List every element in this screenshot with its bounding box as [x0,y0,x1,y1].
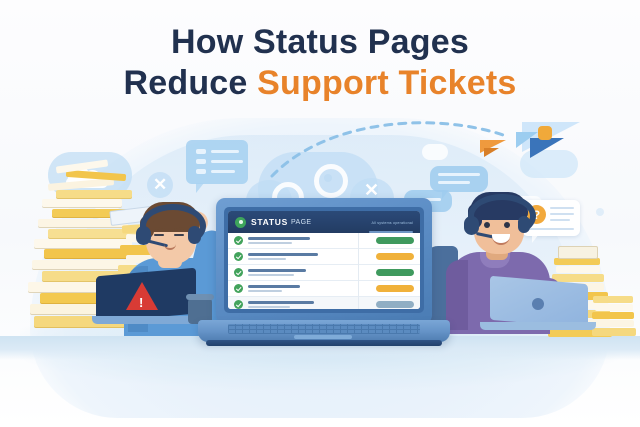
headline-plain: Reduce [124,64,258,102]
warning-exclamation: ! [139,296,143,309]
laptop-trackpad[interactable] [294,335,352,339]
headline-line-1: How Status Pages [0,22,640,63]
paper-plane-icon [512,120,582,168]
document-list-line [196,169,206,174]
status-row-label [248,237,371,244]
laptop-foot [206,340,442,346]
ticket-stack-secondary [592,268,640,340]
status-badge [376,253,414,261]
status-column-divider [358,233,359,309]
status-row-title-line [248,253,318,256]
document-list-line [211,170,235,173]
status-row[interactable] [228,249,420,265]
status-row-detail-line [248,290,282,292]
document-list-line [211,150,239,153]
status-row-detail-line [248,258,286,260]
status-row-label [248,285,371,292]
document-list-line [211,160,243,163]
status-badge [376,269,414,277]
status-row-title-line [248,301,314,304]
laptop-keyboard[interactable] [228,324,420,334]
headline: How Status Pages Reduce Support Tickets [0,22,640,105]
laptop-lid: STATUS PAGE All systems operational [216,198,432,324]
status-page-header: STATUS PAGE All systems operational [228,211,420,233]
status-row-detail-line [248,274,294,276]
status-row-detail-line [248,242,292,244]
green-status-dot-icon [235,217,246,228]
laptop-base [198,320,450,342]
status-page-screen[interactable]: STATUS PAGE All systems operational [228,211,420,309]
status-page-meta-bar [369,231,413,233]
status-row-list [228,233,420,309]
status-badge [376,285,414,293]
document-list-tail [196,183,204,193]
main-laptop: STATUS PAGE All systems operational [198,198,450,348]
laptop-bezel: STATUS PAGE All systems operational [224,207,424,313]
decor-dot [596,208,604,216]
status-row[interactable] [228,281,420,297]
status-row-label [248,253,371,260]
paper-plane-icon-small [478,140,508,160]
status-row-label [248,301,371,308]
right-laptop [474,280,590,338]
status-page-title: STATUS [251,217,288,227]
right-laptop-base [480,322,596,330]
paper-plane-badge [538,126,552,140]
status-row[interactable] [228,265,420,281]
check-circle-icon [234,284,243,293]
headline-accent: Support Tickets [257,64,516,102]
check-circle-icon [234,236,243,245]
headline-line-2: Reduce Support Tickets [0,63,640,104]
status-row[interactable] [228,297,420,309]
status-row-label [248,269,371,276]
status-page-meta-text: All systems operational [371,221,413,225]
right-laptop-logo [532,298,544,310]
check-circle-icon [234,300,243,309]
document-list-line [196,149,206,154]
ticket-note [558,246,598,259]
document-list-line [196,159,206,164]
status-row-title-line [248,285,300,288]
status-page-meta: All systems operational [369,211,413,233]
status-row[interactable] [228,233,420,249]
check-circle-icon [234,252,243,261]
status-page-subtitle: PAGE [291,219,312,226]
status-badge [376,301,414,309]
check-circle-icon [234,268,243,277]
status-row-title-line [248,237,310,240]
x-close-icon: ✕ [364,181,379,199]
illustration-canvas: How Status Pages Reduce Support Tickets … [0,0,640,427]
status-badge [376,237,414,245]
status-row-detail-line [248,306,290,308]
status-row-title-line [248,269,306,272]
